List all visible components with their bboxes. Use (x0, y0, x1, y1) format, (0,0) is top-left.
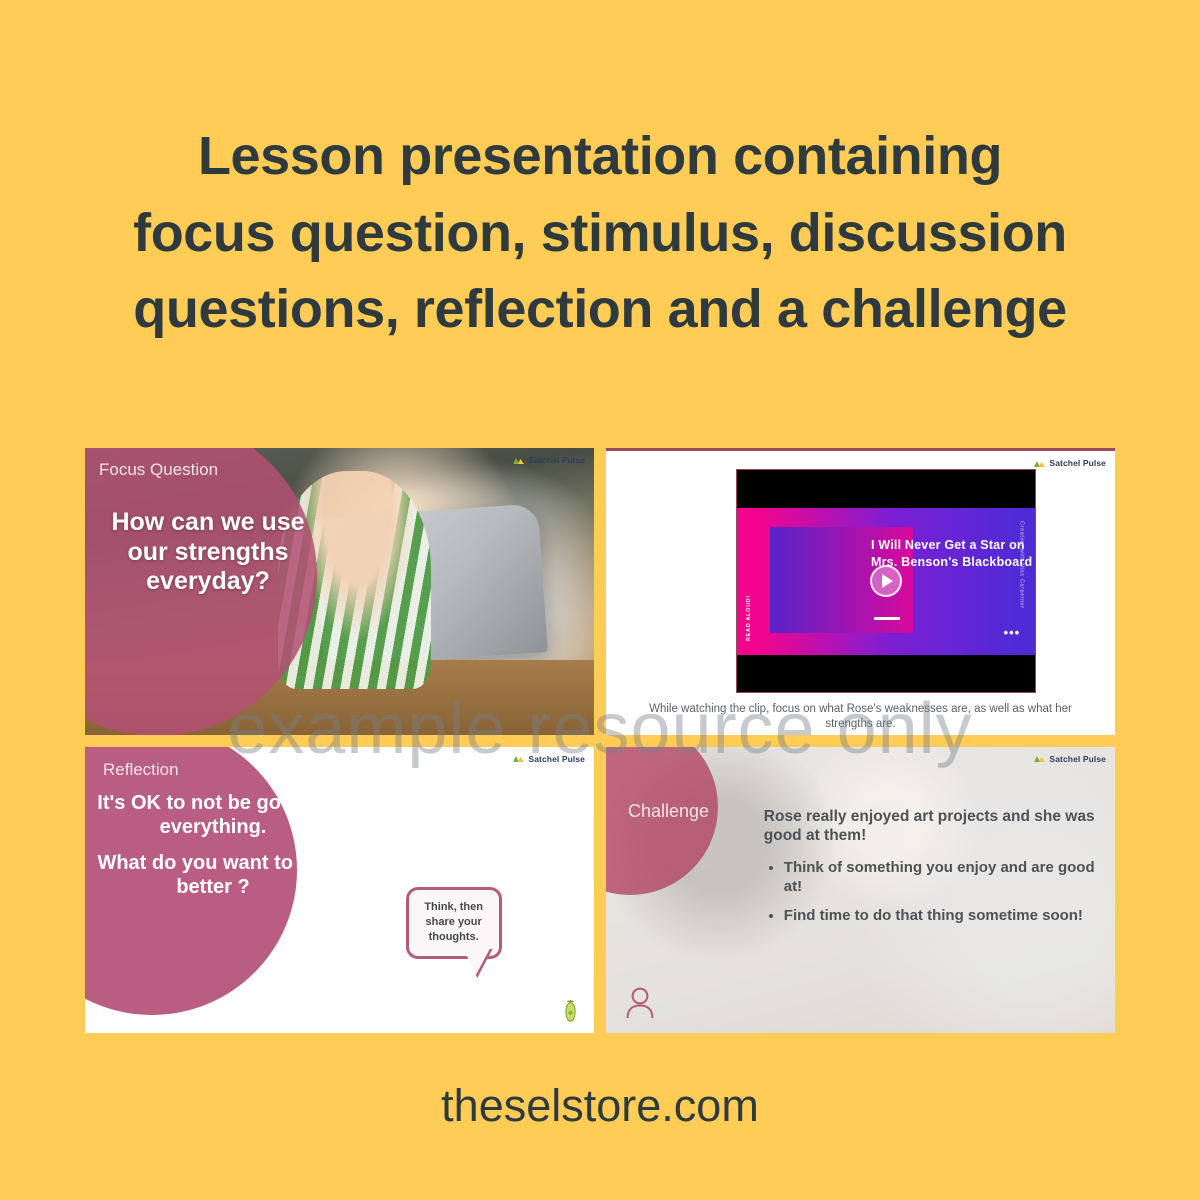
logo-text: Satchel Pulse (1049, 458, 1106, 468)
reflection-text: It's OK to not be good at everything. Wh… (93, 791, 333, 899)
video-embed[interactable]: I Will Never Get a Star on Mrs. Benson's… (736, 469, 1036, 693)
slide-badge-label: Reflection (103, 760, 179, 780)
read-aloud-label: READ ALOUD! (746, 595, 752, 641)
challenge-lead: Rose really enjoyed art projects and she… (764, 807, 1095, 846)
satchel-pulse-logo: Satchel Pulse (512, 754, 585, 764)
satchel-pulse-logo: Satchel Pulse (512, 455, 585, 465)
more-options-icon[interactable]: ••• (1004, 625, 1021, 640)
mountain-triangle-icon (512, 754, 525, 763)
person-icon (626, 987, 654, 1019)
slide-reflection[interactable]: Satchel Pulse Reflection It's OK to not … (85, 747, 594, 1034)
mountain-triangle-icon (512, 456, 525, 465)
list-item: Find time to do that thing sometime soon… (784, 907, 1095, 926)
stimulus-caption: While watching the clip, focus on what R… (642, 702, 1080, 733)
logo-text: Satchel Pulse (1049, 754, 1106, 764)
reflection-statement: It's OK to not be good at everything. (93, 791, 333, 839)
slide-challenge[interactable]: Satchel Pulse Challenge Rose really enjo… (606, 747, 1115, 1034)
slide-badge-label: Challenge (628, 801, 709, 822)
slide-gallery: Focus Question How can we use our streng… (85, 448, 1115, 1033)
speech-bubble: Think, then share your thoughts. (406, 887, 502, 959)
video-title-rule (874, 617, 900, 620)
slide-stimulus[interactable]: Satchel Pulse I Will Never Get a Star on… (606, 448, 1115, 735)
speech-bubble-text: Think, then share your thoughts. (409, 900, 499, 946)
logo-text: Satchel Pulse (528, 455, 585, 465)
page-title: Lesson presentation containing focus que… (0, 118, 1200, 348)
list-item: Think of something you enjoy and are goo… (784, 859, 1095, 896)
video-title: I Will Never Get a Star on Mrs. Benson's… (871, 537, 1035, 570)
reflection-question: What do you want to get better ? (93, 851, 333, 899)
challenge-content: Rose really enjoyed art projects and she… (764, 807, 1095, 936)
focus-question-text: How can we use our strengths everyday? (103, 508, 313, 597)
slide-badge-label: Focus Question (99, 460, 218, 480)
challenge-bullet-list: Think of something you enjoy and are goo… (784, 859, 1095, 925)
logo-text: Satchel Pulse (528, 754, 585, 764)
mountain-triangle-icon (1033, 754, 1046, 763)
channel-label: Creating with Miss Carpenter (1019, 521, 1025, 609)
mountain-triangle-icon (1033, 459, 1046, 468)
slide-focus-question[interactable]: Focus Question How can we use our streng… (85, 448, 594, 735)
pear-icon (561, 999, 580, 1023)
satchel-pulse-logo: Satchel Pulse (1033, 754, 1106, 764)
footer-url: theselstore.com (0, 1080, 1200, 1132)
satchel-pulse-logo: Satchel Pulse (1033, 458, 1106, 468)
